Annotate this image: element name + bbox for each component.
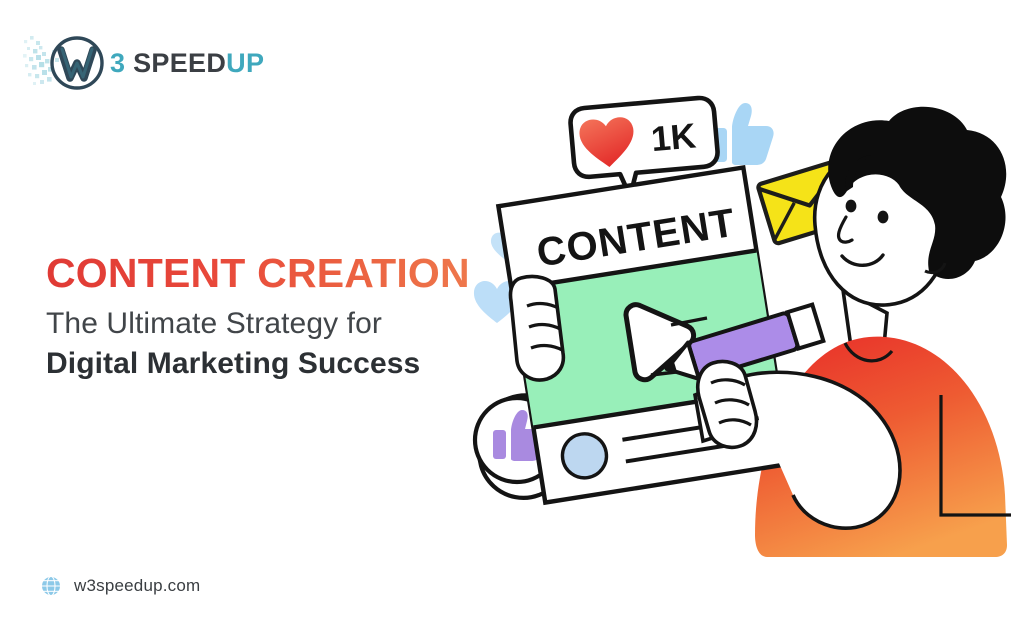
footer-website[interactable]: w3speedup.com — [40, 575, 200, 597]
logo-mark-icon — [22, 32, 114, 94]
poster-canvas: 3 SPEEDUP CONTENT CREATION The Ultimate … — [0, 0, 1024, 643]
hero-illustration: 1K — [455, 75, 1024, 575]
logo-text-3: 3 — [110, 48, 133, 78]
like-count-label: 1K — [650, 116, 698, 159]
logo-text-speed: SPEED — [133, 48, 226, 78]
hand-left — [510, 276, 563, 380]
subtitle-line-2: Digital Marketing Success — [46, 347, 516, 381]
logo-wordmark: 3 SPEEDUP — [110, 48, 264, 79]
logo-text-up: UP — [226, 48, 264, 78]
page-title: CONTENT CREATION — [46, 252, 516, 295]
headline-block: CONTENT CREATION The Ultimate Strategy f… — [46, 252, 516, 381]
globe-icon — [40, 575, 62, 597]
thumbs-up-blue-icon — [712, 103, 774, 165]
character-head — [815, 107, 1007, 305]
character-eye-left — [846, 200, 857, 213]
footer-url-text: w3speedup.com — [74, 576, 200, 596]
brand-logo[interactable]: 3 SPEEDUP — [22, 30, 262, 96]
subtitle-line-1: The Ultimate Strategy for — [46, 307, 516, 341]
character-eye-right — [878, 211, 889, 224]
